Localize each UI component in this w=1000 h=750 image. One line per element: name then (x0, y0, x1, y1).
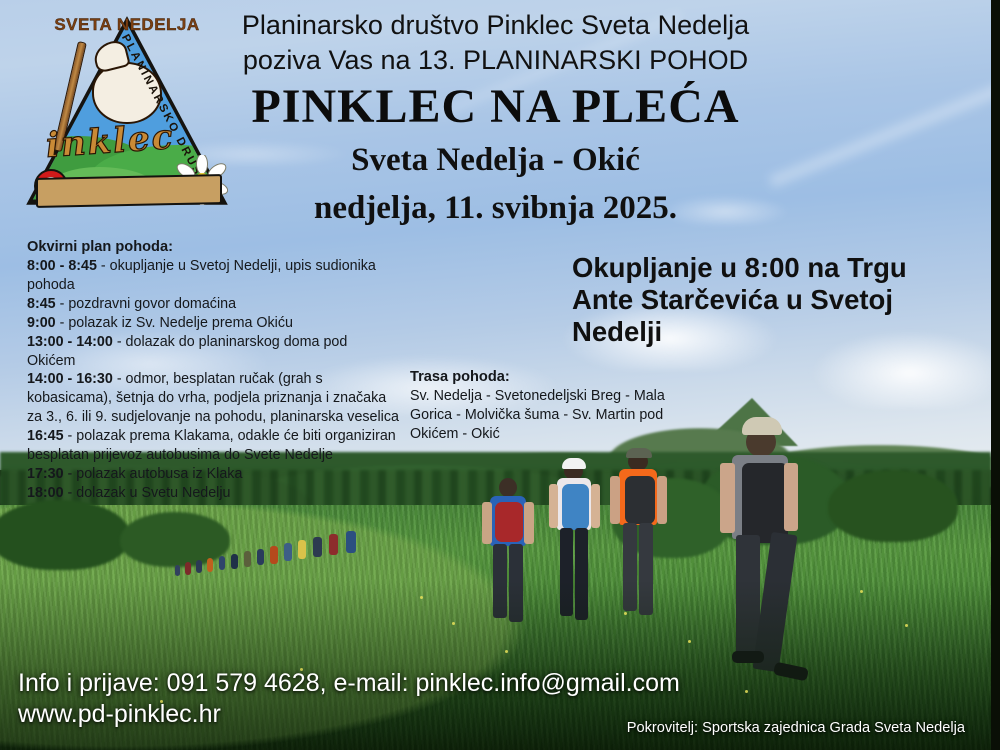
distant-hiker (313, 537, 322, 557)
poster-subtitle-route: Sveta Nedelja - Okić (0, 142, 991, 179)
bush (120, 512, 230, 567)
schedule-row: 8:00 - 8:45 - okupljanje u Svetoj Nedelj… (27, 257, 399, 295)
schedule-time: 8:00 - 8:45 (27, 258, 97, 274)
schedule-time: 18:00 (27, 485, 64, 501)
schedule-heading: Okvirni plan pohoda: (27, 238, 399, 257)
schedule-row: 14:00 - 16:30 - odmor, besplatan ručak (… (27, 370, 399, 427)
schedule-time: 9:00 (27, 315, 56, 331)
distant-hiker (231, 554, 238, 569)
distant-hiker (185, 562, 191, 575)
distant-hiker (284, 543, 292, 561)
schedule-row: 13:00 - 14:00 - dolazak do planinarskog … (27, 333, 399, 371)
distant-hiker (219, 556, 225, 570)
schedule-description: - pozdravni govor domaćina (56, 296, 236, 312)
distant-hiker (329, 534, 338, 555)
schedule-row: 8:45 - pozdravni govor domaćina (27, 295, 399, 314)
invite-line-1: Planinarsko društvo Pinklec Sveta Nedelj… (0, 10, 991, 41)
schedule-description: - polazak iz Sv. Nedelje prema Okiću (56, 315, 293, 331)
schedule-description: - polazak prema Klakama, odakle će biti … (27, 428, 396, 463)
route-heading: Trasa pohoda: (410, 368, 710, 387)
distant-hiker (257, 549, 264, 565)
distant-hiker (244, 551, 251, 567)
schedule-time: 17:30 (27, 466, 64, 482)
schedule-time: 14:00 - 16:30 (27, 371, 113, 387)
schedule-rows: 8:00 - 8:45 - okupljanje u Svetoj Nedelj… (27, 257, 399, 502)
route-block: Trasa pohoda: Sv. Nedelja - Svetonedeljs… (410, 368, 710, 444)
schedule-description: - dolazak u Svetu Nedelju (64, 485, 231, 501)
schedule-block: Okvirni plan pohoda: 8:00 - 8:45 - okupl… (27, 238, 399, 502)
poster-title: PINKLEC NA PLEĆA (0, 79, 991, 134)
schedule-time: 8:45 (27, 296, 56, 312)
schedule-time: 16:45 (27, 428, 64, 444)
distant-hiker (346, 531, 356, 553)
route-text: Sv. Nedelja - Svetonedeljski Breg - Mala… (410, 387, 710, 444)
distant-hiker (196, 560, 202, 573)
poster-subtitle-date: nedjelja, 11. svibnja 2025. (0, 190, 991, 227)
contact-line-1[interactable]: Info i prijave: 091 579 4628, e-mail: pi… (18, 668, 818, 699)
poster-canvas: PLANINARSKO DRUŠTVO inklec SVETA NEDELJA… (0, 0, 1000, 750)
schedule-row: 17:30 - polazak autobusa iz Klaka (27, 465, 399, 484)
distant-hiker (270, 546, 278, 564)
bush (828, 470, 958, 542)
gathering-notice: Okupljanje u 8:00 na Trgu Ante Starčević… (572, 252, 972, 348)
schedule-description: - polazak autobusa iz Klaka (64, 466, 243, 482)
distant-hiker (175, 565, 180, 576)
schedule-row: 16:45 - polazak prema Klakama, odakle će… (27, 427, 399, 465)
distant-hiker (207, 558, 213, 572)
schedule-row: 18:00 - dolazak u Svetu Nedelju (27, 484, 399, 503)
sponsor-label: Pokrovitelj: Sportska zajednica Grada Sv… (627, 720, 965, 736)
schedule-time: 13:00 - 14:00 (27, 334, 113, 350)
bush (0, 500, 130, 570)
schedule-row: 9:00 - polazak iz Sv. Nedelje prema Okić… (27, 314, 399, 333)
distant-hiker (298, 540, 306, 559)
invite-line-2: poziva Vas na 13. PLANINARSKI POHOD (0, 45, 991, 76)
